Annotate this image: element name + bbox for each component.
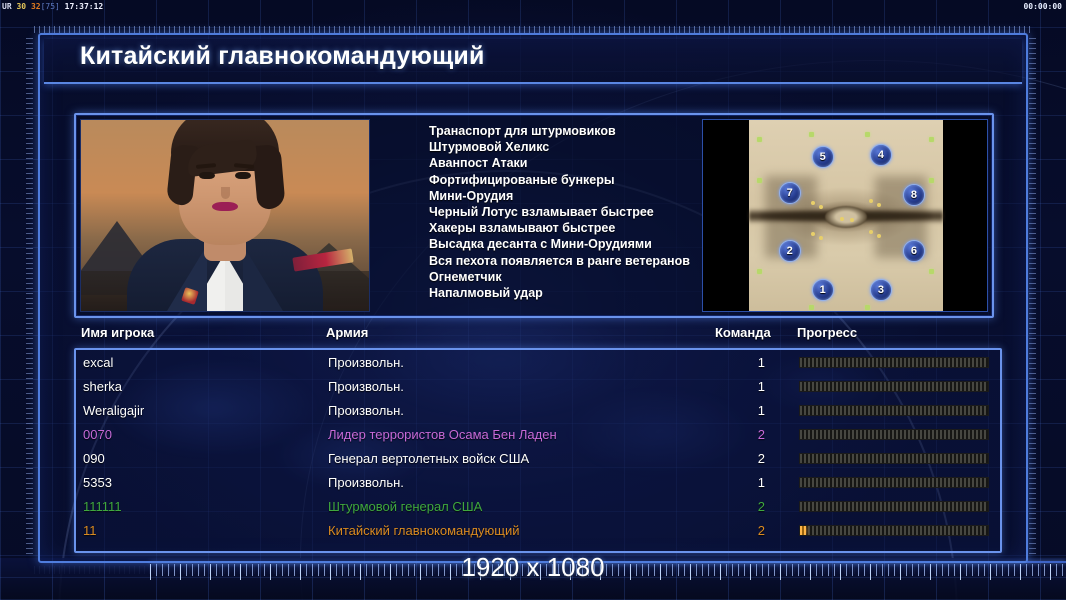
map-center-feature xyxy=(825,206,867,228)
table-row[interactable]: 11Китайский главнокомандующий2 xyxy=(76,518,1000,542)
player-progress-bar xyxy=(799,501,989,512)
status-bracket: [75] xyxy=(41,2,60,11)
player-progress-bar xyxy=(799,429,989,440)
bottom-decorative-strip xyxy=(0,558,1066,600)
portrait-eye-left xyxy=(199,172,215,179)
map-start-position-7[interactable]: 7 xyxy=(779,182,801,204)
top-status-bar: UR 30 32[75] 17:37:12 00:00:00 xyxy=(0,0,1066,13)
progress-track xyxy=(800,526,988,535)
player-table-header: Имя игрока Армия Команда Прогресс xyxy=(74,325,994,347)
fps-status-group: UR 30 32[75] 17:37:12 xyxy=(2,0,103,13)
player-army: Произвольн. xyxy=(328,355,404,370)
map-resource-supply xyxy=(757,269,762,274)
map-start-position-3[interactable]: 3 xyxy=(870,279,892,301)
map-resource-supply xyxy=(757,137,762,142)
dialog-title-bar: Китайский главнокомандующий xyxy=(44,39,1022,84)
player-army: Лидер террористов Осама Бен Ладен xyxy=(328,427,557,442)
map-resource-supply xyxy=(929,137,934,142)
player-progress-bar xyxy=(799,381,989,392)
map-resource-gold xyxy=(877,203,881,207)
general-info-dialog: Китайский главнокомандующий xyxy=(38,33,1028,563)
general-info-panel: Транаспорт для штурмовиковШтурмовой Хели… xyxy=(74,113,994,318)
map-resource-supply xyxy=(757,178,762,183)
player-name: excal xyxy=(83,355,113,370)
column-header-army: Армия xyxy=(326,325,368,340)
map-resource-supply xyxy=(865,132,870,137)
progress-track xyxy=(800,430,988,439)
player-army: Произвольн. xyxy=(328,379,404,394)
player-progress-bar xyxy=(799,405,989,416)
progress-track xyxy=(800,478,988,487)
map-start-position-8[interactable]: 8 xyxy=(903,184,925,206)
match-timer: 00:00:00 xyxy=(1023,0,1062,13)
player-army: Произвольн. xyxy=(328,403,404,418)
player-team: 1 xyxy=(717,355,765,370)
map-start-position-1[interactable]: 1 xyxy=(812,279,834,301)
portrait-eye-right xyxy=(235,172,251,179)
table-row[interactable]: excalПроизвольн.1 xyxy=(76,350,1000,374)
map-resource-supply xyxy=(809,132,814,137)
player-name: sherka xyxy=(83,379,122,394)
player-team: 1 xyxy=(717,475,765,490)
map-resource-supply xyxy=(929,269,934,274)
player-progress-bar xyxy=(799,525,989,536)
ruler-right xyxy=(1029,34,1036,554)
bottom-ruler-ticks-large xyxy=(150,564,1066,580)
player-progress-bar xyxy=(799,477,989,488)
player-progress-bar xyxy=(799,357,989,368)
map-preview: 54782613 xyxy=(702,119,988,312)
map-resource-gold xyxy=(819,236,823,240)
map-resource-gold xyxy=(877,234,881,238)
player-army: Генерал вертолетных войск США xyxy=(328,451,529,466)
page-title: Китайский главнокомандующий xyxy=(80,42,485,71)
map-resource-gold xyxy=(840,217,844,221)
player-progress-bar xyxy=(799,453,989,464)
table-row[interactable]: 0070Лидер террористов Осама Бен Ладен2 xyxy=(76,422,1000,446)
status-value-2: 32 xyxy=(31,2,41,11)
progress-track xyxy=(800,382,988,391)
portrait-hair-side-right xyxy=(252,144,285,210)
player-team: 2 xyxy=(717,499,765,514)
ruler-left xyxy=(26,34,33,554)
game-lobby-screen: UR 30 32[75] 17:37:12 00:00:00 Китайский… xyxy=(0,0,1066,600)
map-resource-supply xyxy=(929,178,934,183)
player-name: Weraligajir xyxy=(83,403,144,418)
player-name: 0070 xyxy=(83,427,112,442)
map-resource-gold xyxy=(869,230,873,234)
map-terrain: 54782613 xyxy=(749,120,943,312)
portrait-lapel-right xyxy=(243,245,283,311)
portrait-lips xyxy=(212,202,238,211)
progress-fill xyxy=(800,526,806,535)
player-name: 5353 xyxy=(83,475,112,490)
player-name: 090 xyxy=(83,451,105,466)
player-team: 2 xyxy=(717,523,765,538)
status-clock: 17:37:12 xyxy=(65,2,104,11)
player-army: Китайский главнокомандующий xyxy=(328,523,520,538)
progress-track xyxy=(800,502,988,511)
progress-track xyxy=(800,358,988,367)
table-row[interactable]: 090Генерал вертолетных войск США2 xyxy=(76,446,1000,470)
map-resource-supply xyxy=(809,305,814,310)
table-row[interactable]: WeraligajirПроизвольн.1 xyxy=(76,398,1000,422)
column-header-name: Имя игрока xyxy=(81,325,154,340)
player-name: 111111 xyxy=(83,499,122,514)
map-resource-gold xyxy=(819,205,823,209)
status-prefix: UR xyxy=(2,2,12,11)
player-team: 2 xyxy=(717,451,765,466)
general-portrait xyxy=(80,119,370,312)
table-row[interactable]: 111111Штурмовой генерал США2 xyxy=(76,494,1000,518)
column-header-team: Команда xyxy=(715,325,771,340)
player-army: Произвольн. xyxy=(328,475,404,490)
map-start-position-6[interactable]: 6 xyxy=(903,240,925,262)
player-army: Штурмовой генерал США xyxy=(328,499,482,514)
status-value-1: 30 xyxy=(16,2,26,11)
map-resource-supply xyxy=(865,305,870,310)
map-start-position-5[interactable]: 5 xyxy=(812,146,834,168)
map-start-position-2[interactable]: 2 xyxy=(779,240,801,262)
table-row[interactable]: sherkaПроизвольн.1 xyxy=(76,374,1000,398)
progress-track xyxy=(800,406,988,415)
player-name: 11 xyxy=(83,523,97,538)
progress-track xyxy=(800,454,988,463)
portrait-nose xyxy=(221,187,230,199)
player-list: excalПроизвольн.1sherkaПроизвольн.1Weral… xyxy=(74,348,1002,553)
column-header-progress: Прогресс xyxy=(797,325,857,340)
player-team: 1 xyxy=(717,379,765,394)
map-start-position-4[interactable]: 4 xyxy=(870,144,892,166)
ruler-top xyxy=(34,26,1034,33)
map-resource-gold xyxy=(869,199,873,203)
player-team: 2 xyxy=(717,427,765,442)
table-row[interactable]: 5353Произвольн.1 xyxy=(76,470,1000,494)
player-team: 1 xyxy=(717,403,765,418)
map-resource-gold xyxy=(811,232,815,236)
